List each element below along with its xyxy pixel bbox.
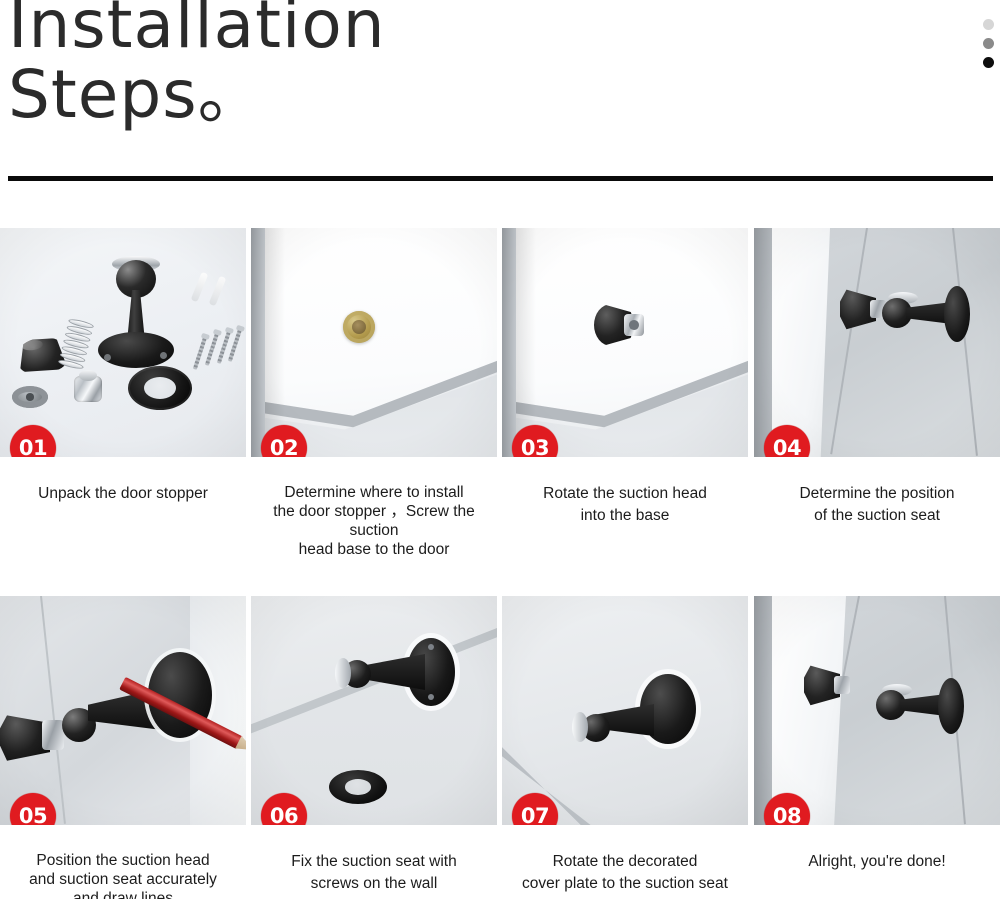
installation-steps-page: Installation Steps。 (0, 0, 1001, 899)
dot-indicator-3[interactable] (983, 57, 994, 68)
step-caption-05: Position the suction head and suction se… (0, 851, 246, 899)
step-photo-08: 08 (754, 596, 1000, 825)
step-caption-02: Determine where to install the door stop… (251, 483, 497, 559)
wall-plug-2 (209, 276, 227, 306)
dot-indicator-1[interactable] (983, 19, 994, 30)
step-card-05[interactable]: 05 Position the suction head and suction… (0, 596, 246, 899)
steps-row-2: 05 Position the suction head and suction… (0, 596, 1001, 899)
step-card-02[interactable]: 02 Determine where to install the door s… (251, 228, 497, 559)
steps-grid: 01 Unpack the door stopper 02 (0, 228, 1001, 899)
door-stopper-body-part (104, 260, 168, 360)
suction-seat-mounted (335, 638, 455, 710)
chrome-nut-part (74, 376, 102, 402)
brass-suction-base (343, 311, 375, 343)
finished-installation-scene (754, 596, 1000, 825)
step-photo-01: 01 (0, 228, 246, 457)
door-shadow (516, 228, 536, 457)
metal-washer-part (12, 386, 48, 408)
step-photo-03: 03 (502, 228, 748, 457)
tile-grout-line-1 (830, 228, 868, 454)
step-photo-02: 02 (251, 228, 497, 457)
step-caption-01: Unpack the door stopper (0, 483, 246, 505)
step-photo-07: 07 (502, 596, 748, 825)
step-card-01[interactable]: 01 Unpack the door stopper (0, 228, 246, 505)
step-photo-04: 04 (754, 228, 1000, 457)
step-caption-07: Rotate the decorated cover plate to the … (502, 851, 748, 895)
step-caption-04: Determine the position of the suction se… (754, 483, 1000, 527)
door-frame-edge (502, 228, 516, 457)
white-door-panel (772, 596, 846, 825)
suction-head-body (840, 286, 888, 332)
parts-layout-scene (0, 228, 246, 457)
decorative-cover-ring (329, 770, 387, 804)
page-header: Installation Steps。 (0, 0, 1001, 186)
step-caption-08: Alright, you're done! (754, 851, 1000, 873)
black-gasket-ring-part (128, 366, 192, 410)
step-card-08[interactable]: 08 Alright, you're done! (754, 596, 1000, 873)
page-title-line-2: Steps。 (8, 62, 265, 128)
suction-head-installed (804, 662, 852, 708)
steps-row-1: 01 Unpack the door stopper 02 (0, 228, 1001, 588)
step-photo-06: 06 (251, 596, 497, 825)
seat-screwed-to-wall-scene (251, 596, 497, 825)
dot-indicator-2[interactable] (983, 38, 994, 49)
suction-seat (882, 284, 968, 342)
step-card-04[interactable]: 04 Determine the position of the suction… (754, 228, 1000, 527)
pagination-dots[interactable] (983, 19, 994, 68)
header-divider (8, 176, 993, 181)
step-card-06[interactable]: 06 Fix the suction seat with screws on t… (251, 596, 497, 895)
suction-head-on-door (594, 302, 646, 348)
wall-plug-1 (191, 272, 209, 302)
left-wall (754, 228, 772, 457)
page-title-line-1: Installation (8, 0, 386, 58)
step-card-07[interactable]: 07 Rotate the decorated cover plate to t… (502, 596, 748, 895)
step-caption-06: Fix the suction seat with screws on the … (251, 851, 497, 895)
step-photo-05: 05 (0, 596, 246, 825)
tiled-floor-scene (754, 228, 1000, 457)
marking-with-pencil-scene (0, 596, 246, 825)
cover-plate-rotated-scene (502, 596, 748, 825)
suction-seat-installed (876, 676, 962, 734)
left-wall (754, 596, 772, 825)
step-card-03[interactable]: 03 Rotate the suction head into the base (502, 228, 748, 527)
white-door-panel (772, 228, 830, 457)
chrome-collar (572, 712, 588, 742)
step-caption-03: Rotate the suction head into the base (502, 483, 748, 527)
door-with-brass-base-scene (251, 228, 497, 457)
door-with-suction-head-scene (502, 228, 748, 457)
door-frame-edge (251, 228, 265, 457)
door-shadow (265, 228, 285, 457)
spring-part (58, 318, 95, 371)
